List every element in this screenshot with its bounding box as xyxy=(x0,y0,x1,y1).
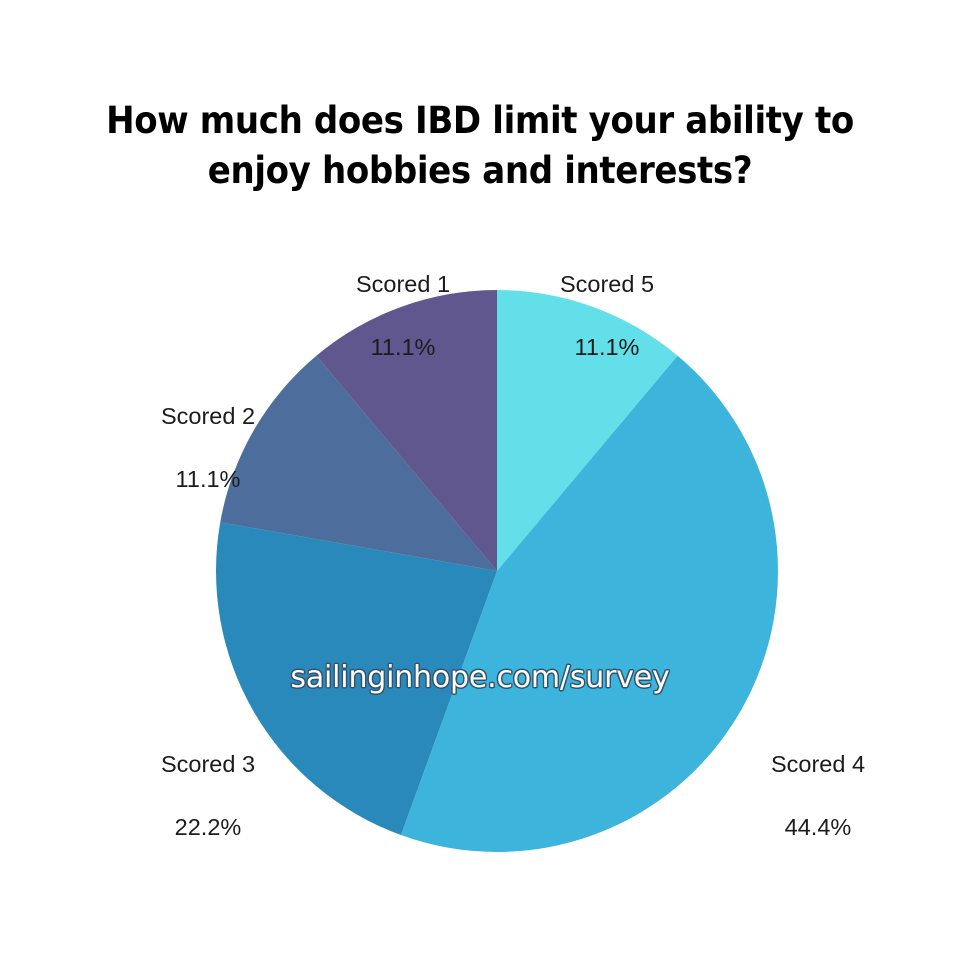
slice-label-percent: 11.1% xyxy=(308,332,498,363)
slice-label-scored-4: Scored 4 44.4% xyxy=(718,718,918,874)
slice-label-percent: 22.2% xyxy=(108,812,308,843)
slice-label-scored-5: Scored 5 11.1% xyxy=(512,238,702,394)
slice-label-scored-3: Scored 3 22.2% xyxy=(108,718,308,874)
slice-label-percent: 11.1% xyxy=(110,464,306,495)
slice-label-scored-2: Scored 2 11.1% xyxy=(110,370,306,526)
slice-label-percent: 44.4% xyxy=(718,812,918,843)
slice-label-name: Scored 1 xyxy=(308,269,498,300)
slice-label-name: Scored 2 xyxy=(110,401,306,432)
slice-label-scored-1: Scored 1 11.1% xyxy=(308,238,498,394)
slice-label-name: Scored 5 xyxy=(512,269,702,300)
slice-label-name: Scored 4 xyxy=(718,749,918,780)
pie-chart-figure: How much does IBD limit your ability to … xyxy=(0,0,960,960)
slice-label-percent: 11.1% xyxy=(512,332,702,363)
slice-label-name: Scored 3 xyxy=(108,749,308,780)
